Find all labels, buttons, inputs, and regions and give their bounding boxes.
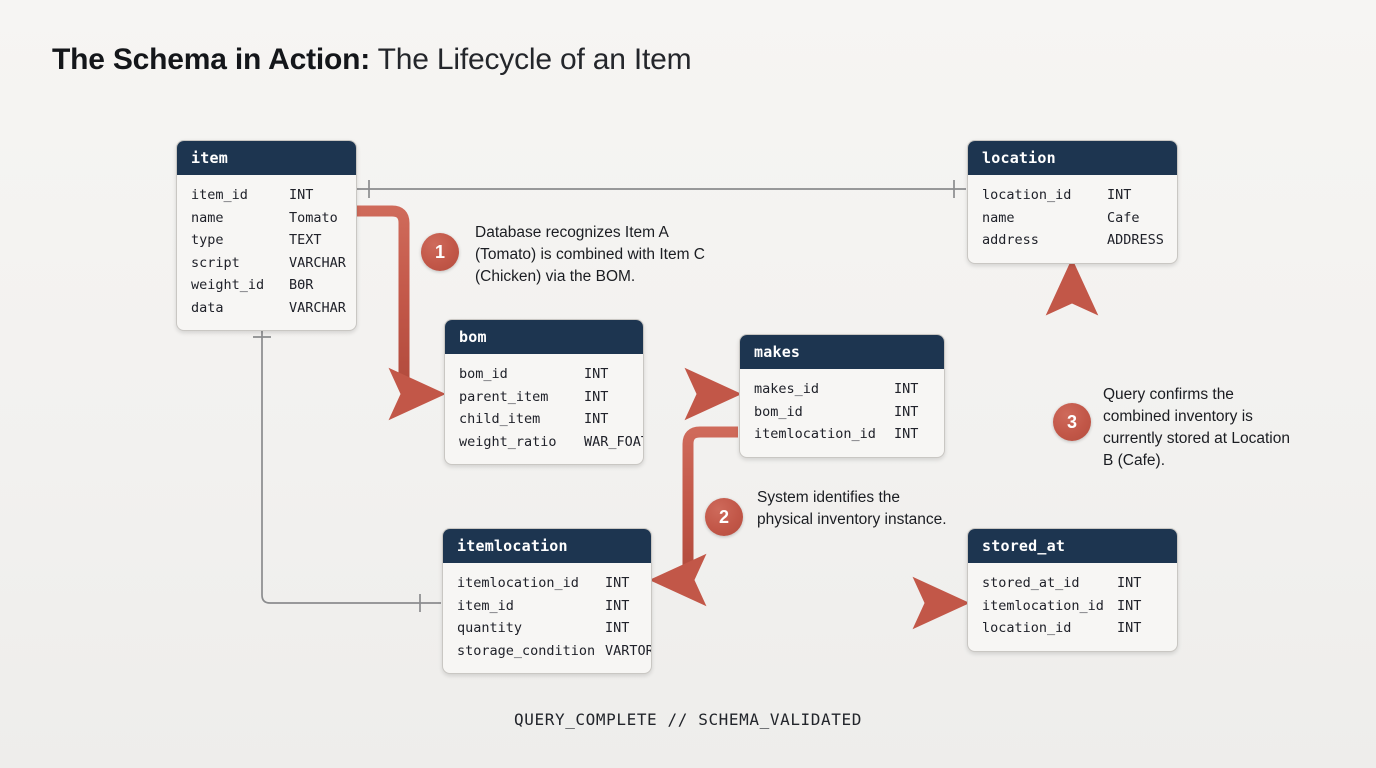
table-item-fields: item_id INT name Tomato type TEXT script…	[177, 175, 356, 330]
field-type: INT	[894, 378, 918, 401]
field-type: INT	[1117, 595, 1141, 618]
field-type: VARCHAR	[289, 297, 346, 320]
field-name: item_id	[191, 184, 289, 207]
field-type: INT	[1117, 617, 1141, 640]
field-name: child_item	[459, 408, 584, 431]
wire-item-location	[356, 180, 966, 198]
table-row: location_id INT	[982, 184, 1165, 207]
table-row: itemlocation_id INT	[982, 595, 1165, 618]
field-name: name	[191, 207, 289, 230]
table-itemlocation-fields: itemlocation_id INT item_id INT quantity…	[443, 563, 651, 673]
wire-item-itemlocation	[253, 323, 441, 612]
table-bom-fields: bom_id INT parent_item INT child_item IN…	[445, 354, 643, 464]
table-makes[interactable]: makes makes_id INT bom_id INT itemlocati…	[739, 334, 945, 458]
field-type: INT	[289, 184, 313, 207]
field-name: weight_id	[191, 274, 289, 297]
field-type: INT	[894, 423, 918, 446]
table-row: weight_ratio WAR_FOAT	[459, 431, 631, 454]
table-row: item_id INT	[191, 184, 344, 207]
step-badge-2: 2	[705, 498, 743, 536]
table-itemlocation-title: itemlocation	[443, 529, 651, 563]
footer-status: QUERY_COMPLETE // SCHEMA_VALIDATED	[0, 710, 1376, 729]
field-type: INT	[605, 617, 629, 640]
table-row: type TEXT	[191, 229, 344, 252]
diagram-canvas: The Schema in Action: The Lifecycle of a…	[0, 0, 1376, 768]
field-type: Tomato	[289, 207, 338, 230]
table-row: parent_item INT	[459, 386, 631, 409]
field-name: parent_item	[459, 386, 584, 409]
field-name: makes_id	[754, 378, 894, 401]
table-row: name Cafe	[982, 207, 1165, 230]
table-row: location_id INT	[982, 617, 1165, 640]
field-type: INT	[1117, 572, 1141, 595]
field-name: bom_id	[754, 401, 894, 424]
step-callout-1: Database recognizes Item A (Tomato) is c…	[475, 222, 729, 288]
table-row: bom_id INT	[754, 401, 932, 424]
table-row: weight_id BΘR	[191, 274, 344, 297]
field-name: itemlocation_id	[457, 572, 605, 595]
table-item-title: item	[177, 141, 356, 175]
field-type: INT	[605, 595, 629, 618]
field-name: data	[191, 297, 289, 320]
table-item[interactable]: item item_id INT name Tomato type TEXT s…	[176, 140, 357, 331]
table-location-title: location	[968, 141, 1177, 175]
page-title: The Schema in Action: The Lifecycle of a…	[52, 40, 691, 80]
table-row: makes_id INT	[754, 378, 932, 401]
field-name: location_id	[982, 617, 1117, 640]
field-name: weight_ratio	[459, 431, 584, 454]
field-name: stored_at_id	[982, 572, 1117, 595]
table-stored-at[interactable]: stored_at stored_at_id INT itemlocation_…	[967, 528, 1178, 652]
table-row: storage_condition VARTOR	[457, 640, 639, 663]
field-type: INT	[584, 408, 608, 431]
field-name: itemlocation_id	[754, 423, 894, 446]
field-name: bom_id	[459, 363, 584, 386]
table-row: itemlocation_id INT	[457, 572, 639, 595]
table-stored-at-title: stored_at	[968, 529, 1177, 563]
field-name: location_id	[982, 184, 1107, 207]
table-itemlocation[interactable]: itemlocation itemlocation_id INT item_id…	[442, 528, 652, 674]
table-row: bom_id INT	[459, 363, 631, 386]
field-type: VARCHAR	[289, 252, 346, 275]
step-badge-3: 3	[1053, 403, 1091, 441]
field-type: TEXT	[289, 229, 322, 252]
step-badge-1: 1	[421, 233, 459, 271]
field-type: INT	[584, 363, 608, 386]
field-name: item_id	[457, 595, 605, 618]
table-bom[interactable]: bom bom_id INT parent_item INT child_ite…	[444, 319, 644, 465]
table-stored-at-fields: stored_at_id INT itemlocation_id INT loc…	[968, 563, 1177, 651]
field-type: ADDRESS	[1107, 229, 1164, 252]
flow-item-to-bom	[357, 211, 432, 394]
table-row: script VARCHAR	[191, 252, 344, 275]
field-name: quantity	[457, 617, 605, 640]
field-name: itemlocation_id	[982, 595, 1117, 618]
table-makes-title: makes	[740, 335, 944, 369]
field-type: BΘR	[289, 274, 313, 297]
field-type: INT	[894, 401, 918, 424]
field-type: INT	[605, 572, 629, 595]
table-row: child_item INT	[459, 408, 631, 431]
table-location-fields: location_id INT name Cafe address ADDRES…	[968, 175, 1177, 263]
field-name: name	[982, 207, 1107, 230]
table-row: name Tomato	[191, 207, 344, 230]
step-callout-2: System identifies the physical inventory…	[757, 487, 957, 531]
field-type: WAR_FOAT	[584, 431, 644, 454]
field-type: INT	[1107, 184, 1131, 207]
page-title-strong: The Schema in Action:	[52, 43, 370, 76]
field-type: VARTOR	[605, 640, 652, 663]
table-makes-fields: makes_id INT bom_id INT itemlocation_id …	[740, 369, 944, 457]
step-callout-3: Query confirms the combined inventory is…	[1103, 384, 1303, 472]
table-location[interactable]: location location_id INT name Cafe addre…	[967, 140, 1178, 264]
field-name: storage_condition	[457, 640, 605, 663]
field-name: script	[191, 252, 289, 275]
table-row: address ADDRESS	[982, 229, 1165, 252]
table-row: itemlocation_id INT	[754, 423, 932, 446]
field-name: address	[982, 229, 1107, 252]
table-row: data VARCHAR	[191, 297, 344, 320]
field-name: type	[191, 229, 289, 252]
table-row: quantity INT	[457, 617, 639, 640]
field-type: INT	[584, 386, 608, 409]
page-title-light: The Lifecycle of an Item	[370, 43, 691, 76]
table-bom-title: bom	[445, 320, 643, 354]
table-row: item_id INT	[457, 595, 639, 618]
field-type: Cafe	[1107, 207, 1140, 230]
table-row: stored_at_id INT	[982, 572, 1165, 595]
